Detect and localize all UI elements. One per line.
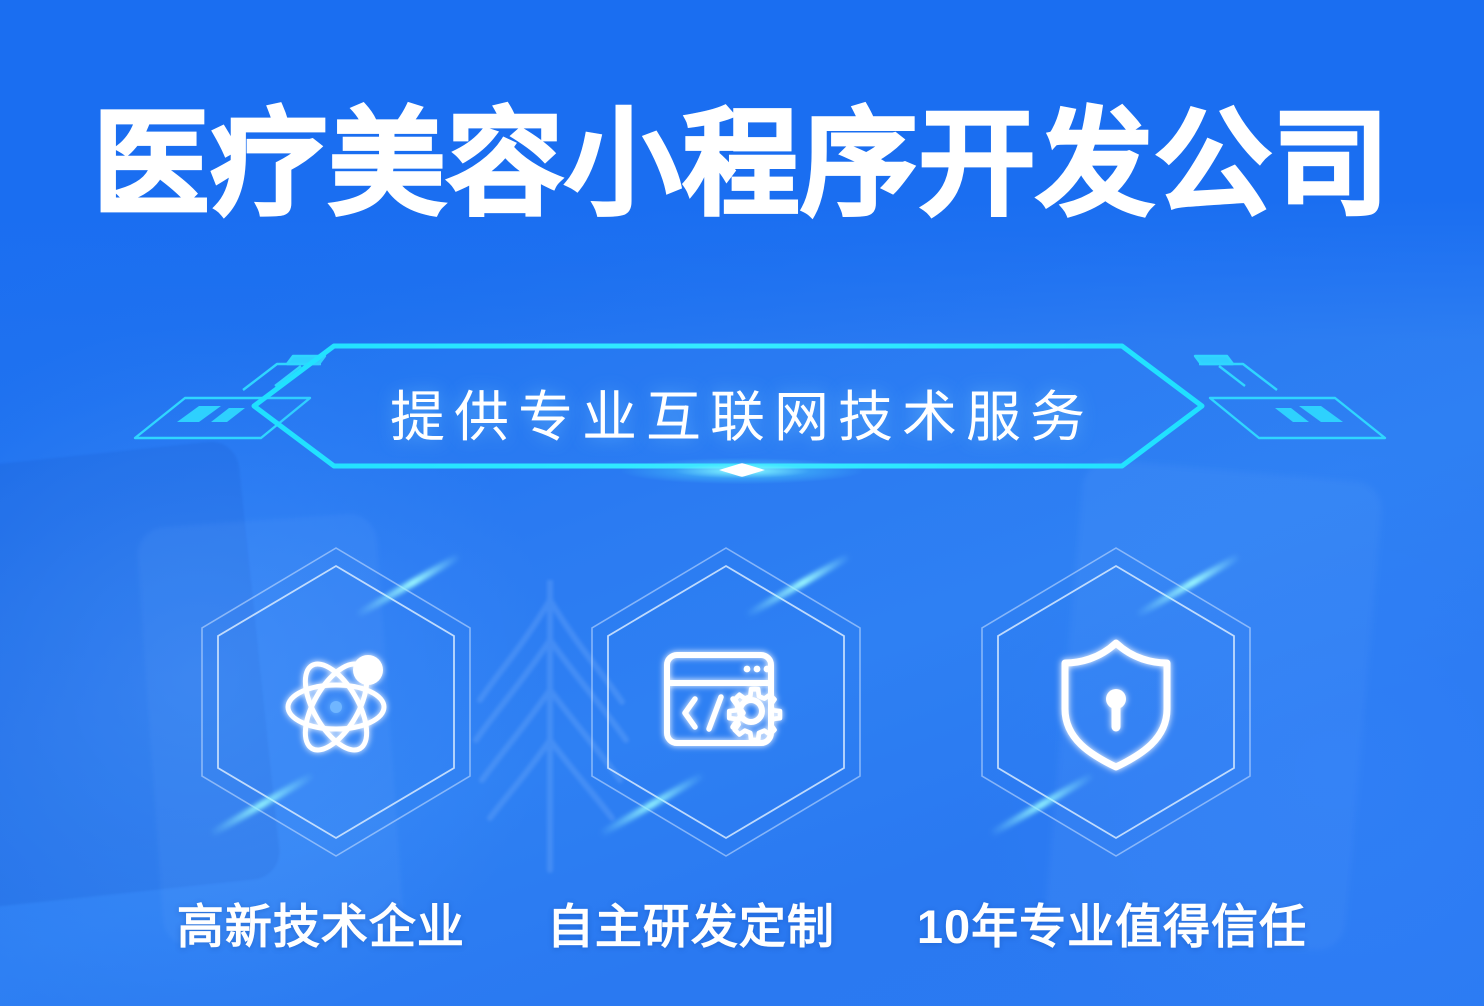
feature-icon-row — [0, 546, 1484, 866]
feature-card-3[interactable] — [978, 546, 1254, 858]
shield-lock-icon — [1041, 627, 1191, 777]
subtitle-text: 提供专业互联网技术服务 — [0, 372, 1484, 452]
feature-label-2: 自主研发定制 — [547, 888, 835, 957]
subtitle-banner: 提供专业互联网技术服务 — [0, 332, 1484, 492]
code-window-gear-icon — [651, 627, 801, 777]
promo-banner: 医疗美容小程序开发公司 — [0, 0, 1484, 1006]
feature-label-row: 高新技术企业 自主研发定制 10年专业值得信任 — [0, 888, 1484, 957]
atom-icon — [261, 627, 411, 777]
page-title: 医疗美容小程序开发公司 — [0, 104, 1484, 227]
feature-label-3: 10年专业值得信任 — [917, 888, 1307, 957]
feature-card-1[interactable] — [198, 546, 474, 858]
feature-card-2[interactable] — [588, 546, 864, 858]
feature-label-1: 高新技术企业 — [177, 888, 465, 957]
